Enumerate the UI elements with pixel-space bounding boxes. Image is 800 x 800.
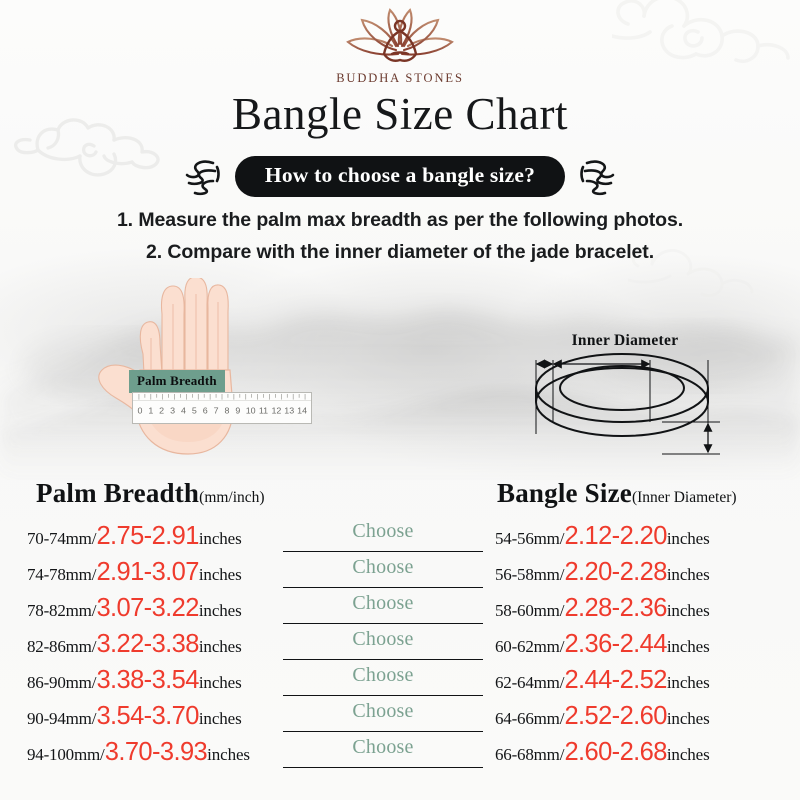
page-title: Bangle Size Chart <box>0 88 800 140</box>
palm-mm-value: 94-100mm <box>27 745 100 765</box>
choose-label[interactable]: Choose <box>283 700 483 723</box>
bangle-size-cell: 56-58mm/2.20-2.28inches <box>495 560 710 586</box>
banner-row: How to choose a bangle size? <box>0 156 800 197</box>
choose-field[interactable]: Choose <box>283 664 483 696</box>
instruction-line-1: 1. Measure the palm max breadth as per t… <box>0 205 800 237</box>
ruler-icon: 0 1 2 3 4 5 6 7 8 9 10 11 12 13 14 <box>132 392 312 424</box>
choose-underline <box>283 731 483 733</box>
calligraphic-flourish-icon <box>575 157 617 197</box>
table-row: 78-82mm/3.07-3.22inches Choose 58-60mm/2… <box>0 590 800 626</box>
how-to-choose-banner: How to choose a bangle size? <box>235 156 565 197</box>
svg-text:0: 0 <box>137 406 142 416</box>
choose-underline <box>283 767 483 769</box>
column-header-palm-breadth: Palm Breadth(mm/inch) <box>36 478 265 509</box>
palm-mm-value: 86-90mm <box>27 673 92 693</box>
svg-text:12: 12 <box>271 406 281 416</box>
palm-inch-value: 2.91-3.07 <box>96 560 198 586</box>
instructions-block: 1. Measure the palm max breadth as per t… <box>0 205 800 268</box>
open-palm-hand-icon <box>88 278 338 460</box>
table-row: 70-74mm/2.75-2.91inches Choose 54-56mm/2… <box>0 518 800 554</box>
choose-field[interactable]: Choose <box>283 592 483 624</box>
bangle-size-cell: 64-66mm/2.52-2.60inches <box>495 704 710 730</box>
brand-name: BUDDHA STONES <box>336 71 464 86</box>
svg-text:9: 9 <box>235 406 240 416</box>
choose-underline <box>283 551 483 553</box>
svg-text:8: 8 <box>224 406 229 416</box>
bangle-inch-value: 2.20-2.28 <box>564 560 666 586</box>
table-row: 94-100mm/3.70-3.93inches Choose 66-68mm/… <box>0 734 800 770</box>
bangle-unit-label: inches <box>667 637 710 657</box>
palm-size-cell: 70-74mm/2.75-2.91inches <box>27 524 242 550</box>
palm-size-cell: 94-100mm/3.70-3.93inches <box>27 740 250 766</box>
bangle-torus-icon <box>512 330 738 466</box>
choose-label[interactable]: Choose <box>283 520 483 543</box>
palm-breadth-title: Palm Breadth <box>36 478 199 508</box>
svg-text:1: 1 <box>148 406 153 416</box>
choose-underline <box>283 659 483 661</box>
palm-mm-value: 78-82mm <box>27 601 92 621</box>
palm-unit-label: inches <box>207 745 250 765</box>
palm-size-cell: 86-90mm/3.38-3.54inches <box>27 668 242 694</box>
svg-text:5: 5 <box>192 406 197 416</box>
instruction-line-2: 2. Compare with the inner diameter of th… <box>0 237 800 269</box>
palm-unit-label: inches <box>199 637 242 657</box>
bangle-size-unit-note: (Inner Diameter) <box>632 489 737 506</box>
bangle-size-cell: 60-62mm/2.36-2.44inches <box>495 632 710 658</box>
palm-unit-label: inches <box>199 565 242 585</box>
palm-size-cell: 82-86mm/3.22-3.38inches <box>27 632 242 658</box>
lotus-meditation-icon <box>340 8 460 70</box>
palm-mm-value: 90-94mm <box>27 709 92 729</box>
bangle-unit-label: inches <box>667 709 710 729</box>
palm-size-cell: 78-82mm/3.07-3.22inches <box>27 596 242 622</box>
choose-label[interactable]: Choose <box>283 556 483 579</box>
palm-breadth-unit-note: (mm/inch) <box>199 489 264 506</box>
choose-underline <box>283 623 483 625</box>
bangle-mm-value: 56-58mm <box>495 565 560 585</box>
choose-field[interactable]: Choose <box>283 736 483 768</box>
bangle-inch-value: 2.44-2.52 <box>564 668 666 694</box>
palm-inch-value: 3.54-3.70 <box>96 704 198 730</box>
table-row: 90-94mm/3.54-3.70inches Choose 64-66mm/2… <box>0 698 800 734</box>
palm-unit-label: inches <box>199 601 242 621</box>
palm-size-cell: 90-94mm/3.54-3.70inches <box>27 704 242 730</box>
svg-text:7: 7 <box>214 406 219 416</box>
palm-unit-label: inches <box>199 709 242 729</box>
svg-text:14: 14 <box>297 406 307 416</box>
palm-inch-value: 2.75-2.91 <box>96 524 198 550</box>
bangle-mm-value: 64-66mm <box>495 709 560 729</box>
bangle-inch-value: 2.12-2.20 <box>564 524 666 550</box>
table-row: 74-78mm/2.91-3.07inches Choose 56-58mm/2… <box>0 554 800 590</box>
palm-unit-label: inches <box>199 673 242 693</box>
palm-inch-value: 3.38-3.54 <box>96 668 198 694</box>
bangle-inch-value: 2.60-2.68 <box>564 740 666 766</box>
bangle-inch-value: 2.28-2.36 <box>564 596 666 622</box>
choose-field[interactable]: Choose <box>283 628 483 660</box>
bangle-mm-value: 54-56mm <box>495 529 560 549</box>
bangle-unit-label: inches <box>667 745 710 765</box>
svg-text:10: 10 <box>246 406 256 416</box>
size-table: 70-74mm/2.75-2.91inches Choose 54-56mm/2… <box>0 518 800 770</box>
bangle-size-cell: 58-60mm/2.28-2.36inches <box>495 596 710 622</box>
bangle-size-chart-page: BUDDHA STONES Bangle Size Chart How to c… <box>0 0 800 800</box>
column-header-bangle-size: Bangle Size(Inner Diameter) <box>497 478 737 509</box>
palm-breadth-label: Palm Breadth <box>129 370 225 393</box>
brand-logo: BUDDHA STONES <box>0 8 800 86</box>
bangle-mm-value: 58-60mm <box>495 601 560 621</box>
palm-inch-value: 3.07-3.22 <box>96 596 198 622</box>
palm-mm-value: 82-86mm <box>27 637 92 657</box>
palm-size-cell: 74-78mm/2.91-3.07inches <box>27 560 242 586</box>
bangle-unit-label: inches <box>667 565 710 585</box>
bangle-mm-value: 60-62mm <box>495 637 560 657</box>
bangle-unit-label: inches <box>667 673 710 693</box>
choose-label[interactable]: Choose <box>283 592 483 615</box>
palm-unit-label: inches <box>199 529 242 549</box>
palm-inch-value: 3.70-3.93 <box>105 740 207 766</box>
palm-mm-value: 70-74mm <box>27 529 92 549</box>
calligraphic-flourish-icon <box>183 157 225 197</box>
svg-text:3: 3 <box>170 406 175 416</box>
choose-field[interactable]: Choose <box>283 700 483 732</box>
bangle-mm-value: 62-64mm <box>495 673 560 693</box>
choose-underline <box>283 587 483 589</box>
svg-text:4: 4 <box>181 406 186 416</box>
bangle-size-cell: 66-68mm/2.60-2.68inches <box>495 740 710 766</box>
bangle-size-cell: 62-64mm/2.44-2.52inches <box>495 668 710 694</box>
table-row: 82-86mm/3.22-3.38inches Choose 60-62mm/2… <box>0 626 800 662</box>
bangle-unit-label: inches <box>667 601 710 621</box>
palm-inch-value: 3.22-3.38 <box>96 632 198 658</box>
choose-label[interactable]: Choose <box>283 628 483 651</box>
svg-text:11: 11 <box>259 406 268 416</box>
bangle-size-title: Bangle Size <box>497 478 632 508</box>
bangle-inch-value: 2.36-2.44 <box>564 632 666 658</box>
bangle-inch-value: 2.52-2.60 <box>564 704 666 730</box>
bangle-unit-label: inches <box>667 529 710 549</box>
table-row: 86-90mm/3.38-3.54inches Choose 62-64mm/2… <box>0 662 800 698</box>
choose-label[interactable]: Choose <box>283 736 483 759</box>
choose-field[interactable]: Choose <box>283 520 483 552</box>
svg-text:2: 2 <box>159 406 164 416</box>
choose-field[interactable]: Choose <box>283 556 483 588</box>
svg-text:6: 6 <box>203 406 208 416</box>
svg-text:13: 13 <box>284 406 294 416</box>
choose-label[interactable]: Choose <box>283 664 483 687</box>
bangle-size-cell: 54-56mm/2.12-2.20inches <box>495 524 710 550</box>
bangle-mm-value: 66-68mm <box>495 745 560 765</box>
choose-underline <box>283 695 483 697</box>
palm-mm-value: 74-78mm <box>27 565 92 585</box>
